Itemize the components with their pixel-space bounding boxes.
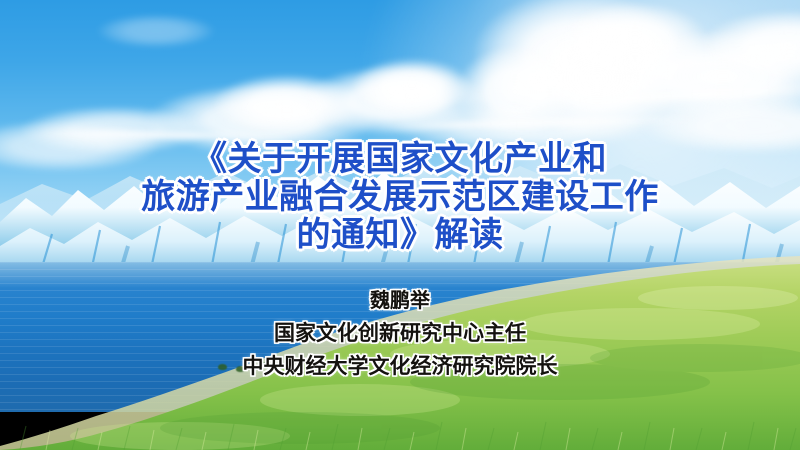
title-line-1: 《关于开展国家文化产业和 [141, 140, 659, 178]
presenter-name: 魏鹏举 [243, 288, 558, 315]
slide-title: 《关于开展国家文化产业和 旅游产业融合发展示范区建设工作 的通知》解读 [141, 140, 659, 254]
presenter-role-2: 中央财经大学文化经济研究院院长 [243, 353, 558, 381]
title-line-3: 的通知》解读 [141, 216, 659, 254]
title-slide: 《关于开展国家文化产业和 旅游产业融合发展示范区建设工作 的通知》解读 魏鹏举 … [0, 0, 800, 450]
presenter-info: 魏鹏举 国家文化创新研究中心主任 中央财经大学文化经济研究院院长 [243, 288, 558, 381]
slide-text: 《关于开展国家文化产业和 旅游产业融合发展示范区建设工作 的通知》解读 魏鹏举 … [0, 0, 800, 450]
presenter-role-1: 国家文化创新研究中心主任 [243, 320, 558, 348]
title-line-2: 旅游产业融合发展示范区建设工作 [141, 178, 659, 216]
